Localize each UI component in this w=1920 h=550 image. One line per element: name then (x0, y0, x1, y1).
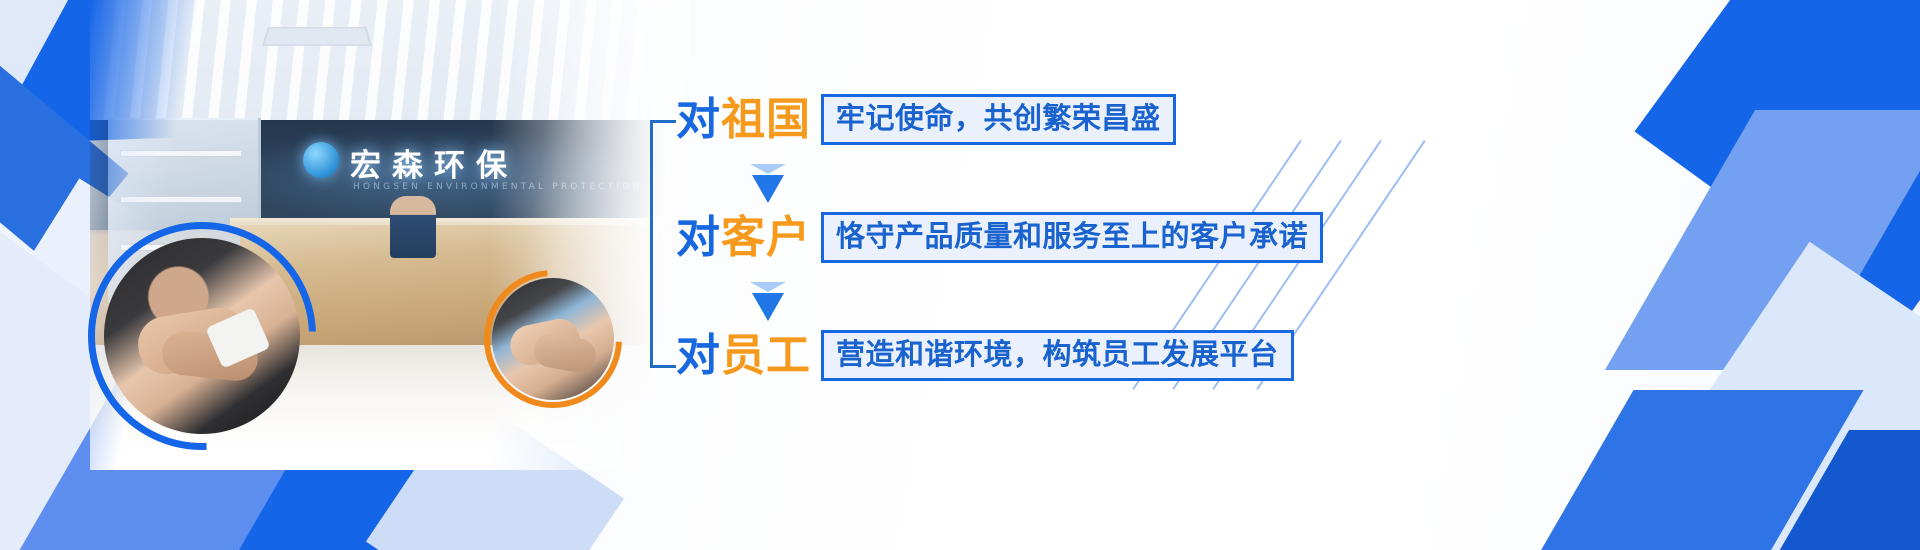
commitment-list: 对祖国 牢记使命，共创繁荣昌盛 对客户 恪守产品质量和服务至上的客户承诺 对员工… (650, 78, 1390, 408)
commitment-tag-employee: 营造和谐环境，构筑员工发展平台 (821, 330, 1294, 381)
commitment-lead-prefix: 对 (676, 330, 721, 381)
commitment-lead-prefix: 对 (676, 94, 721, 145)
bracket-connector (650, 120, 676, 368)
company-logo-icon (303, 142, 339, 178)
commitment-lead-object: 祖国 (721, 94, 811, 145)
down-arrow-bottom-2 (752, 293, 784, 321)
commitment-lead-object: 员工 (721, 330, 811, 381)
commitment-lead-object: 客户 (721, 212, 811, 263)
commitment-row-employee: 对员工 营造和谐环境，构筑员工发展平台 (676, 330, 1294, 381)
down-arrow-top-2 (750, 282, 786, 292)
commitment-tag-customer: 恪守产品质量和服务至上的客户承诺 (821, 212, 1323, 263)
commitment-tag-country: 牢记使命，共创繁荣昌盛 (821, 94, 1176, 145)
commitment-lead-customer: 对客户 (676, 216, 811, 260)
down-arrow-top-1 (750, 164, 786, 174)
commitment-row-customer: 对客户 恪守产品质量和服务至上的客户承诺 (676, 212, 1323, 263)
commitment-lead-country: 对祖国 (676, 98, 811, 142)
commitment-lead-employee: 对员工 (676, 334, 811, 378)
promo-banner: 宏森环保 HONGSEN ENVIRONMENTAL PROTECTION 对祖… (0, 0, 1920, 550)
commitment-row-country: 对祖国 牢记使命，共创繁荣昌盛 (676, 94, 1176, 145)
lobby-shelf-2 (120, 196, 242, 203)
lobby-staff-person (390, 196, 436, 258)
lobby-ceiling-vent (262, 27, 372, 46)
lobby-shelf-1 (120, 150, 242, 157)
down-arrow-bottom-1 (752, 175, 784, 203)
commitment-lead-prefix: 对 (676, 212, 721, 263)
